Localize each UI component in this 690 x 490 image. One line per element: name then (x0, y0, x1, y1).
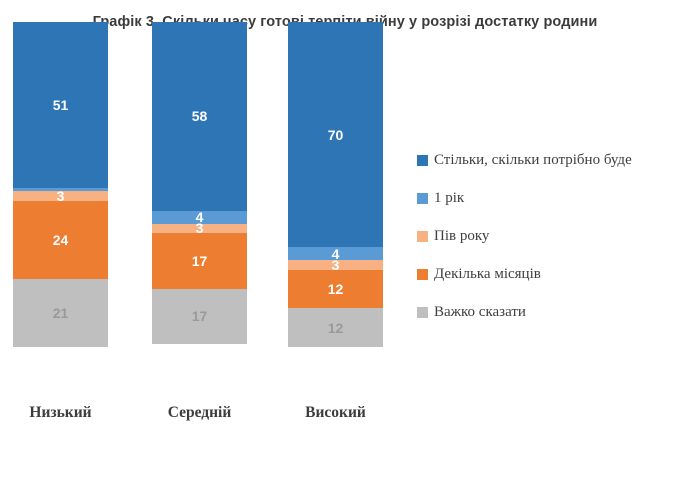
bar-stack-nyzkyi[interactable]: 5132421 (13, 22, 108, 347)
legend-label-3: Декілька місяців (434, 267, 541, 282)
legend-swatch-icon-2 (417, 231, 428, 242)
chart-container: Графік 3. Скільки часу готові терпіти ві… (0, 0, 690, 490)
legend-item-1[interactable]: 1 рік (417, 179, 685, 217)
bar-segment-nyzkyi-2[interactable]: 3 (13, 191, 108, 201)
bar-segment-value-vysokyi-3: 12 (328, 282, 344, 296)
bar-segment-value-nyzkyi-0: 51 (53, 98, 69, 112)
bar-segment-vysokyi-0[interactable]: 70 (288, 22, 383, 247)
legend-label-2: Пів року (434, 229, 489, 244)
bar-segment-vysokyi-4[interactable]: 12 (288, 308, 383, 347)
chart-legend: Стільки, скільки потрібно буде1 рікПів р… (417, 141, 685, 331)
bar-segment-serednii-2[interactable]: 3 (152, 224, 247, 234)
bar-segment-value-nyzkyi-3: 24 (53, 233, 69, 247)
bar-segment-value-nyzkyi-2: 3 (57, 189, 65, 203)
bar-segment-value-serednii-0: 58 (192, 109, 208, 123)
legend-swatch-icon-3 (417, 269, 428, 280)
bar-segment-serednii-4[interactable]: 17 (152, 289, 247, 344)
bar-segment-value-serednii-4: 17 (192, 309, 208, 323)
plot-area: 5132421 58431717 70431212 (0, 0, 410, 440)
legend-item-0[interactable]: Стільки, скільки потрібно буде (417, 141, 685, 179)
legend-swatch-icon-1 (417, 193, 428, 204)
legend-item-2[interactable]: Пів року (417, 217, 685, 255)
category-label-2: Високий (288, 404, 383, 422)
legend-item-3[interactable]: Декілька місяців (417, 255, 685, 293)
bar-segment-value-serednii-3: 17 (192, 254, 208, 268)
bar-stack-serednii[interactable]: 58431717 (152, 22, 247, 347)
bar-stack-vysokyi[interactable]: 70431212 (288, 22, 383, 347)
bar-segment-vysokyi-2[interactable]: 3 (288, 260, 383, 270)
legend-swatch-icon-4 (417, 307, 428, 318)
bar-segment-value-serednii-2: 3 (196, 221, 204, 235)
bar-segment-value-vysokyi-2: 3 (332, 258, 340, 272)
legend-label-0: Стільки, скільки потрібно буде (434, 153, 632, 168)
bar-segment-value-vysokyi-0: 70 (328, 128, 344, 142)
bar-segment-nyzkyi-3[interactable]: 24 (13, 201, 108, 279)
category-axis: Низький Середній Високий (0, 404, 410, 430)
bar-segment-serednii-3[interactable]: 17 (152, 233, 247, 288)
bar-segment-vysokyi-3[interactable]: 12 (288, 270, 383, 309)
bar-segment-nyzkyi-0[interactable]: 51 (13, 22, 108, 188)
legend-swatch-icon-0 (417, 155, 428, 166)
category-label-0: Низький (13, 404, 108, 422)
bar-segment-serednii-0[interactable]: 58 (152, 22, 247, 211)
legend-label-1: 1 рік (434, 191, 464, 206)
category-label-1: Середній (152, 404, 247, 422)
bar-segment-nyzkyi-4[interactable]: 21 (13, 279, 108, 347)
bar-segment-value-vysokyi-4: 12 (328, 321, 344, 335)
legend-label-4: Важко сказати (434, 305, 526, 320)
legend-item-4[interactable]: Важко сказати (417, 293, 685, 331)
bar-segment-value-nyzkyi-4: 21 (53, 306, 69, 320)
